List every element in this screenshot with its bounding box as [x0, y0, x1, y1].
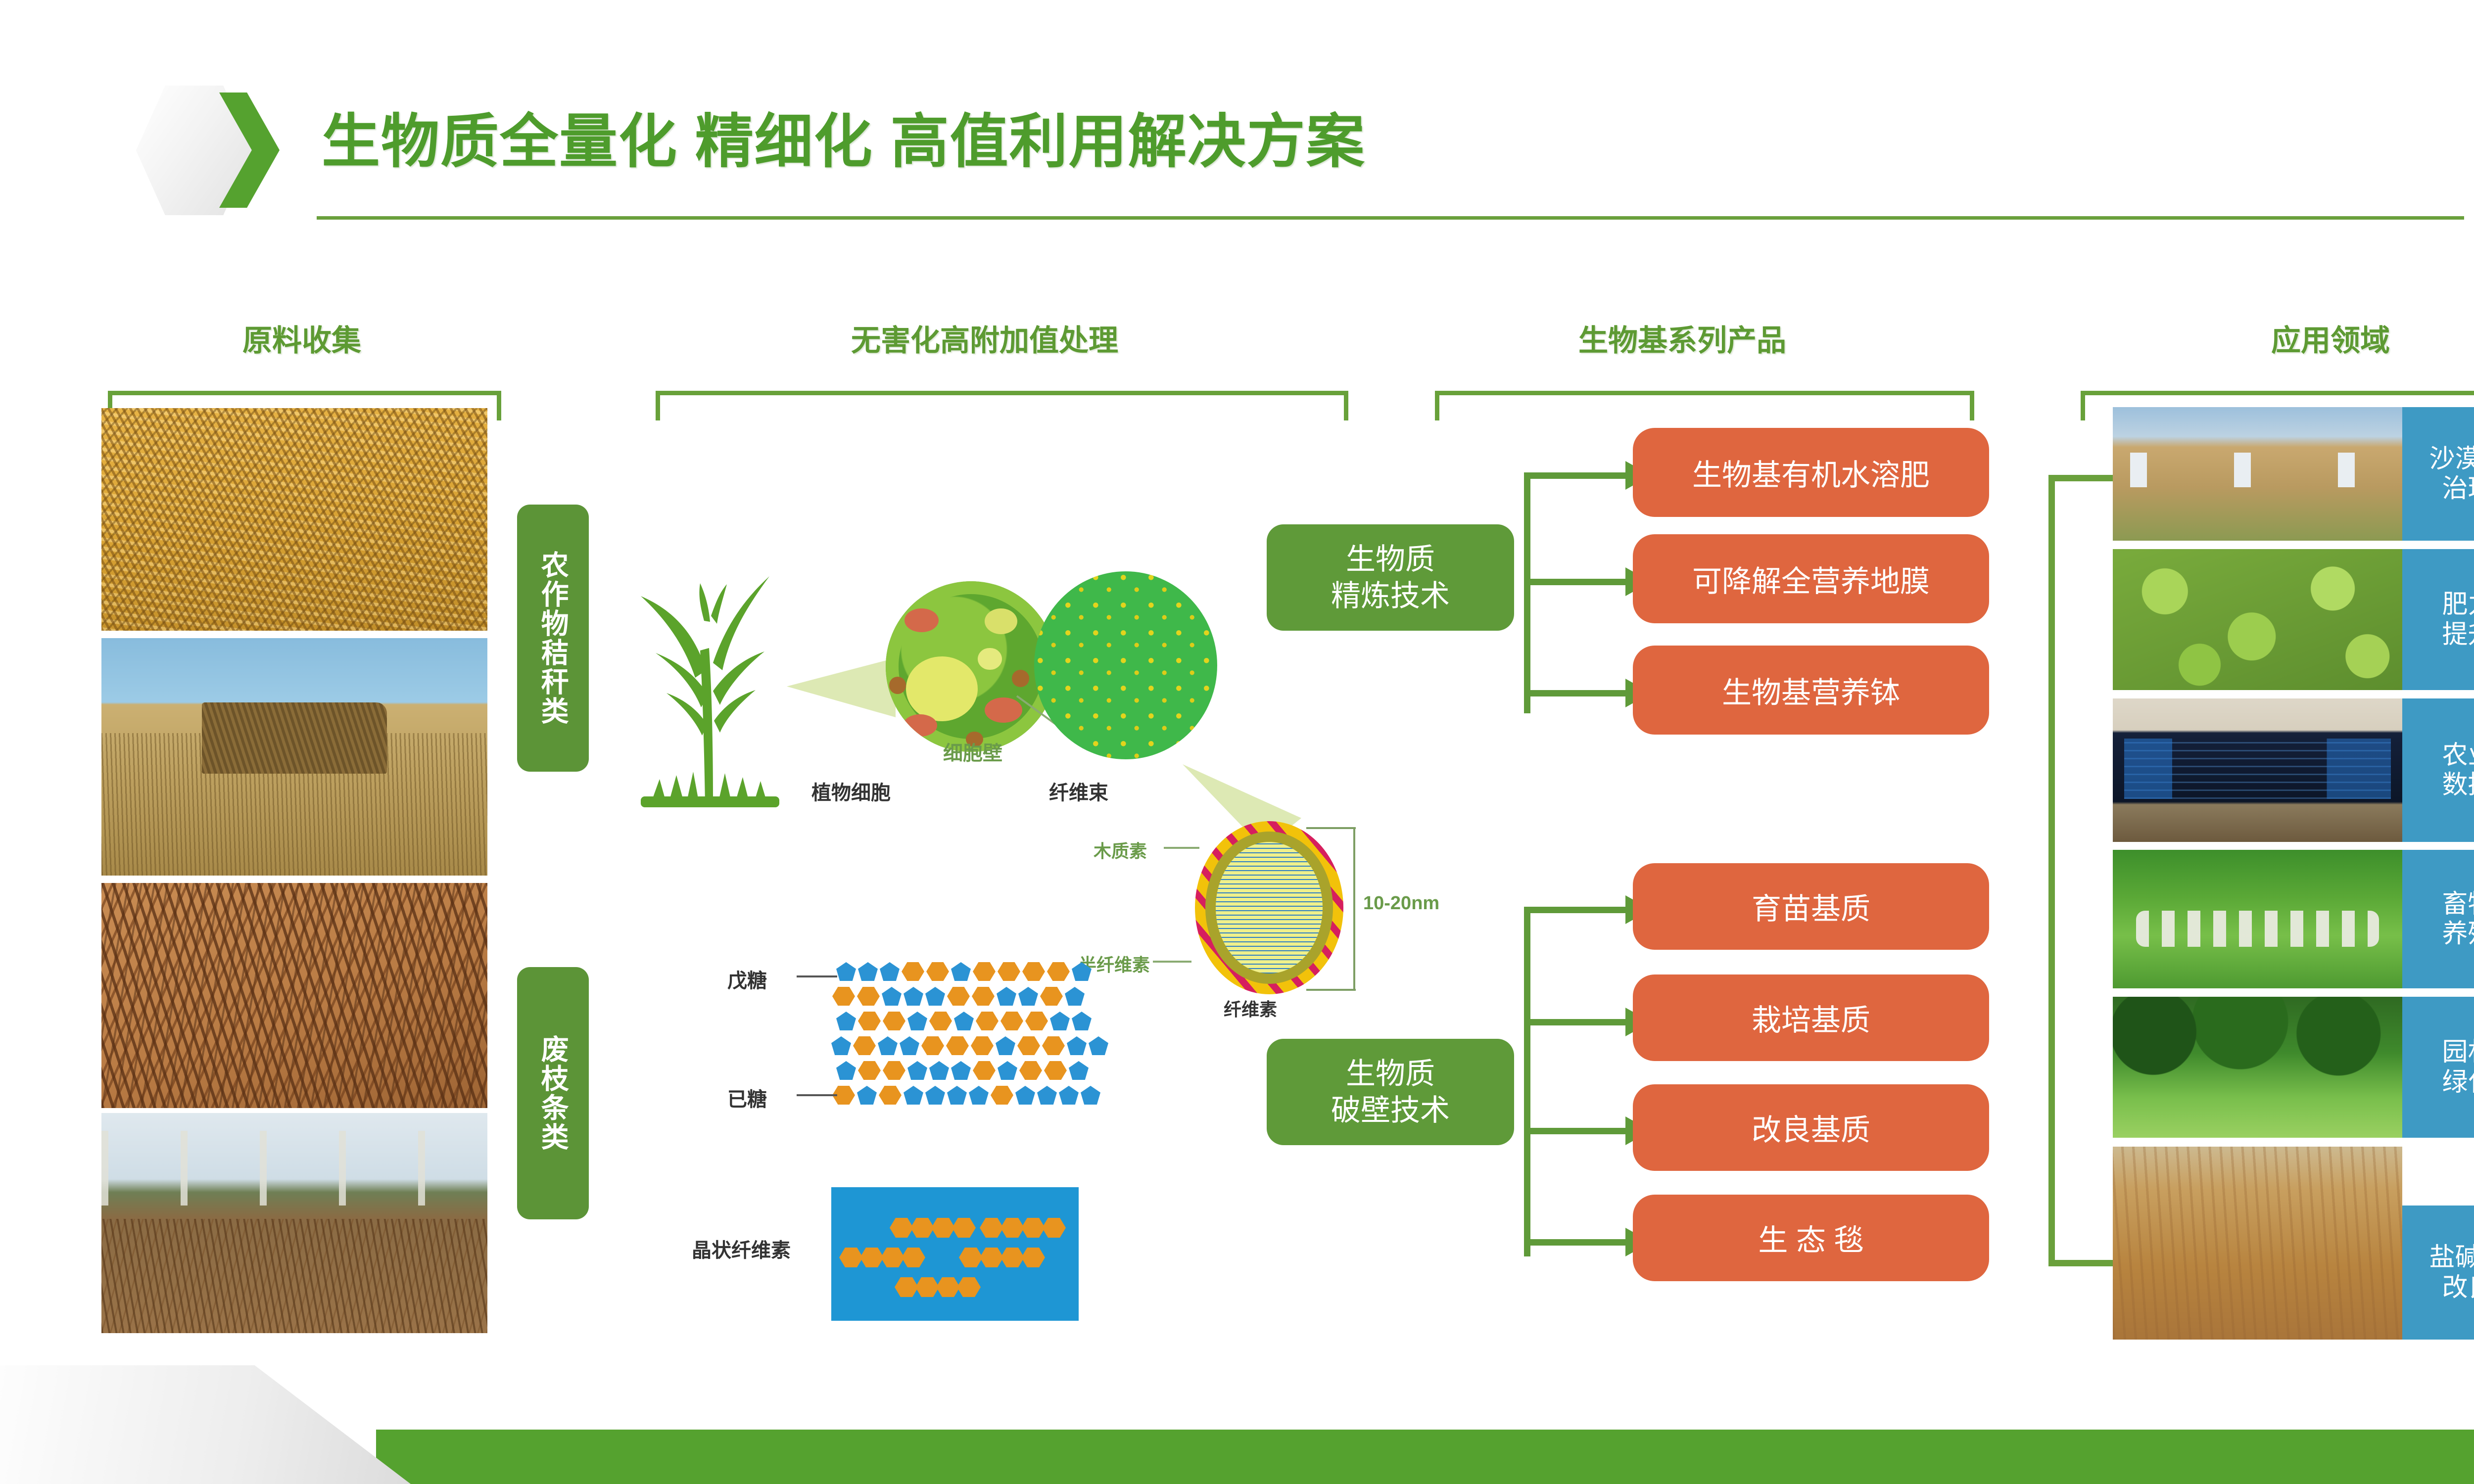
- product-box-ecological-blanket[interactable]: 生 态 毯: [1633, 1195, 1989, 1281]
- leader-line-hexose: [797, 1094, 837, 1096]
- section-header-feedstock: 原料收集: [163, 317, 440, 360]
- cell-organelle-a: [1012, 670, 1029, 687]
- photo-fertility-improvement: [2113, 549, 2402, 690]
- label-lignin: 木质素: [1094, 837, 1147, 863]
- application-greening-line1: 园林: [2442, 1037, 2474, 1067]
- infographic-page: 生物质全量化 精细化 高值利用解决方案 原料收集 无害化高附加值处理 生物基系列…: [0, 0, 2474, 1484]
- photo-corn-straw: [101, 408, 487, 631]
- cell-chloroplast-c: [903, 714, 937, 737]
- plant-cell-illustration: [886, 581, 1056, 752]
- photo-desertification-control: [2113, 407, 2402, 541]
- technology-box-refining[interactable]: 生物质 精炼技术: [1267, 524, 1514, 631]
- product-box-improvement-substrate[interactable]: 改良基质: [1633, 1084, 1989, 1171]
- magnify-cone-plant-to-cell: [787, 658, 896, 717]
- feedstock-tab-crop-straw[interactable]: 农作物秸秆类: [517, 505, 589, 772]
- cellulose-nanofiber-cross-section: [1195, 821, 1343, 994]
- label-plant-cell: 植物细胞: [811, 777, 891, 805]
- dimension-tick-top: [1306, 827, 1356, 829]
- section-header-processing: 无害化高附加值处理: [708, 317, 1262, 360]
- photo-saline-alkali-land: [2113, 1147, 2402, 1340]
- connector-branch-refining-2: [1524, 579, 1628, 585]
- application-agri-data-line2: 数据: [2442, 770, 2474, 800]
- application-livestock-line1: 畜牧: [2442, 889, 2474, 919]
- connector-branch-wb-4: [1524, 1239, 1628, 1246]
- fiber-bundle-illustration: [1034, 571, 1217, 759]
- section-header-products: 生物基系列产品: [1450, 317, 1915, 360]
- application-label-fertility[interactable]: 肥力 提升: [2402, 549, 2474, 690]
- title-underline: [317, 216, 2464, 220]
- page-title: 生物质全量化 精细化 高值利用解决方案: [322, 94, 1366, 179]
- grass-plant-icon: [621, 547, 799, 809]
- dimension-tick-bottom: [1306, 989, 1356, 991]
- label-nanofiber-dimension: 10-20nm: [1363, 893, 1439, 914]
- connector-trunk-wallbreaking: [1524, 910, 1530, 1256]
- footer-white-wedge: [0, 1365, 411, 1484]
- cell-chloroplast-b: [985, 697, 1022, 723]
- application-label-agri-data[interactable]: 农业 数据: [2402, 698, 2474, 842]
- section-header-applications: 应用领域: [2152, 317, 2474, 360]
- product-box-biodegradable-mulch-film[interactable]: 可降解全营养地膜: [1633, 534, 1989, 623]
- photo-vineyard-pruning: [101, 1113, 487, 1333]
- bracket-processing: [656, 391, 1348, 420]
- photo-livestock-breeding: [2113, 850, 2402, 988]
- label-fiber-bundle: 纤维束: [1049, 777, 1108, 805]
- connector-branch-refining-3: [1524, 690, 1628, 696]
- product-box-cultivation-substrate[interactable]: 栽培基质: [1633, 974, 1989, 1061]
- technology-wallbreaking-line2: 破壁技术: [1331, 1092, 1450, 1128]
- connector-branch-wb-1: [1524, 907, 1628, 913]
- label-hexose: 已糖: [727, 1083, 767, 1112]
- cell-organelle-b: [889, 677, 906, 694]
- application-saline-line1: 盐碱地: [2429, 1243, 2474, 1272]
- application-label-livestock[interactable]: 畜牧 养殖: [2402, 850, 2474, 988]
- application-fertility-line1: 肥力: [2442, 590, 2474, 619]
- application-label-desertification[interactable]: 沙漠化 治理: [2402, 407, 2474, 541]
- application-fertility-line2: 提升: [2442, 620, 2474, 649]
- cell-vacuole-a: [985, 608, 1017, 634]
- cell-chloroplast-a: [904, 608, 939, 632]
- application-agri-data-line1: 农业: [2442, 741, 2474, 770]
- feedstock-tab-waste-branches[interactable]: 废枝条类: [517, 967, 589, 1219]
- technology-box-wallbreaking[interactable]: 生物质 破壁技术: [1267, 1039, 1514, 1145]
- application-desertification-line2: 治理: [2429, 474, 2474, 504]
- connector-trunk-refining: [1524, 476, 1530, 713]
- technology-wallbreaking-line1: 生物质: [1331, 1056, 1450, 1092]
- photo-straw-bale: [101, 638, 487, 876]
- crystalline-cellulose-diagram: [831, 1187, 1079, 1321]
- cell-vacuole-b: [978, 648, 1001, 670]
- product-box-seedling-substrate[interactable]: 育苗基质: [1633, 863, 1989, 950]
- dimension-line-vertical: [1353, 827, 1355, 990]
- leader-line-lignin: [1164, 847, 1199, 849]
- connector-branch-wb-3: [1524, 1128, 1628, 1134]
- connector-branch-wb-2: [1524, 1019, 1628, 1025]
- application-label-saline-alkali[interactable]: 盐碱地 改良: [2402, 1206, 2474, 1340]
- product-box-nutrient-pot[interactable]: 生物基营养钵: [1633, 646, 1989, 735]
- label-cell-wall: 细胞壁: [943, 737, 1002, 766]
- application-saline-line2: 改良: [2429, 1273, 2474, 1302]
- application-greening-line2: 绿化: [2442, 1067, 2474, 1097]
- bracket-products: [1435, 391, 1974, 420]
- header-hexagon-decoration: [136, 77, 285, 225]
- cellulose-core: [1216, 842, 1323, 974]
- footer-green-bar: [376, 1430, 2474, 1484]
- photo-landscape-greening: [2113, 997, 2402, 1138]
- label-cellulose: 纤维素: [1224, 995, 1277, 1021]
- connector-branch-refining-1: [1524, 472, 1628, 479]
- sugar-chain-illustration: [836, 962, 1202, 1106]
- application-desertification-line1: 沙漠化: [2429, 444, 2474, 474]
- application-livestock-line2: 养殖: [2442, 919, 2474, 949]
- product-box-water-soluble-fertilizer[interactable]: 生物基有机水溶肥: [1633, 428, 1989, 517]
- technology-refining-line2: 精炼技术: [1331, 578, 1450, 614]
- label-pentose: 戊糖: [727, 965, 767, 993]
- photo-waste-branches: [101, 883, 487, 1108]
- photo-agricultural-data: [2113, 698, 2402, 842]
- technology-refining-line1: 生物质: [1331, 541, 1450, 577]
- cell-nucleus: [906, 656, 978, 721]
- bracket-to-applications: [2048, 475, 2113, 1266]
- application-label-greening[interactable]: 园林 绿化: [2402, 997, 2474, 1138]
- leader-line-pentose: [797, 975, 837, 977]
- label-crystalline-cellulose: 晶状纤维素: [692, 1234, 791, 1263]
